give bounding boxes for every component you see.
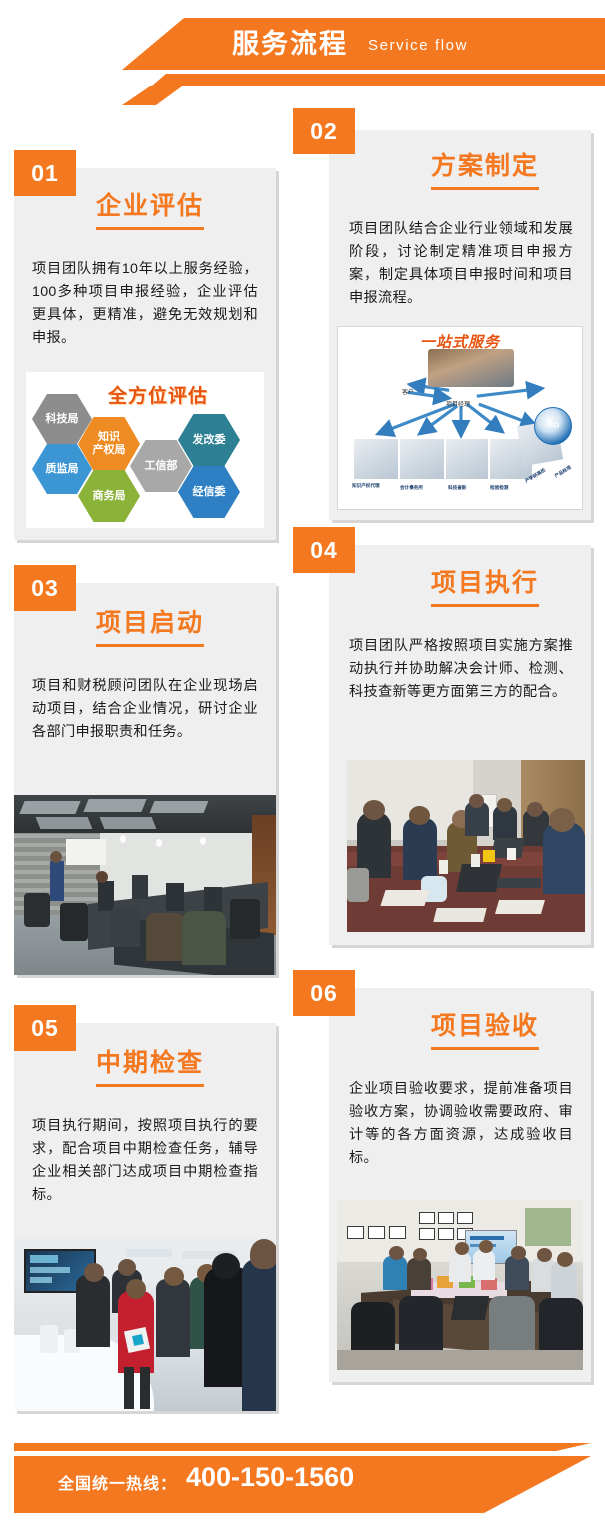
card-title-05: 中期检查 [96,1043,204,1087]
step-number-02: 02 [293,108,355,154]
step-card-03: 项目启动 项目和财税顾问团队在企业现场启动项目，结合企业情况，研讨企业各部门申报… [14,583,276,975]
one-stop-label-2: 会计事务所 [400,485,423,491]
photo-showroom-visit [14,1239,276,1411]
photo-conference-room [14,795,276,975]
hex-diagram-heading: 全方位评估 [108,381,208,408]
step-card-02: 方案制定 项目团队结合企业行业领域和发展阶段，讨论制定精准项目申报方案，制定具体… [329,130,591,520]
card-title-01: 企业评估 [96,186,204,230]
card-title-03: 项目启动 [96,603,204,647]
card-body-02: 项目团队结合企业行业领域和发展阶段，讨论制定精准项目申报方案，制定具体项目申报时… [349,218,573,310]
page-title: 服务流程 [232,26,348,62]
one-stop-label-1: 知识产权代理 [352,483,380,489]
footer-accent-line [14,1443,591,1451]
photo-boardroom-review [337,1200,583,1370]
card-title-04: 项目执行 [431,563,539,607]
one-stop-node-photo-2 [400,439,444,479]
step-card-01: 企业评估 项目团队拥有10年以上服务经验，100多种项目申报经验，企业评估更具体… [14,168,276,540]
card-body-06: 企业项目验收要求，提前准备项目验收方案，协调验收需要政府、审计等的各方面资源，达… [349,1078,573,1170]
step-card-05: 中期检查 项目执行期间，按照项目执行的要求，配合项目中期检查任务，辅导企业相关部… [14,1023,276,1411]
step-number-05: 05 [14,1005,76,1051]
card-title-02: 方案制定 [431,146,539,190]
card-title-06: 项目验收 [431,1006,539,1050]
step-card-06: 项目验收 企业项目验收要求，提前准备项目验收方案，协调验收需要政府、审计等的各方… [329,988,591,1382]
card-body-01: 项目团队拥有10年以上服务经验，100多种项目申报经验，企业评估更具体，更精准，… [32,258,258,350]
one-stop-node-photo-1 [354,439,398,479]
hotline-label: 全国统一热线： [58,1470,177,1494]
step-number-06: 06 [293,970,355,1016]
service-flow-infographic: 服务流程 Service flow 企业评估 项目团队拥有10年以上服务经验，1… [0,0,605,1538]
step-card-04: 项目执行 项目团队严格按照项目实施方案推动执行并协助解决会计师、检测、科技查新等… [329,545,591,945]
page-header: 服务流程 Service flow [0,0,605,105]
card-body-04: 项目团队严格按照项目实施方案推动执行并协助解决会计师、检测、科技查新等更方面第三… [349,635,573,704]
hotline-phone[interactable]: 400-150-1560 [186,1462,354,1493]
one-stop-client-label: 客户 [402,387,414,396]
card-body-05: 项目执行期间，按照项目执行的要求，配合项目中期检查任务，辅导企业相关部门达成项目… [32,1115,258,1207]
iso-seal-label: ISO [547,423,560,430]
one-stop-hub-label: 项目经理 [446,399,470,408]
step-number-03: 03 [14,565,76,611]
step-number-04: 04 [293,527,355,573]
one-stop-hub-photo [428,349,514,387]
step-number-01: 01 [14,150,76,196]
one-stop-label-4: 检验检测 [490,485,508,491]
one-stop-label-3: 科技查新 [448,485,466,491]
header-orange-banner [122,18,605,70]
hex-node-shangwu-ju: 商务局 [78,470,140,522]
hex-diagram: 全方位评估 科技局 知识 产权局 发改委 质监局 工信部 商务局 经信委 [26,372,264,528]
iso-seal-icon: ISO [534,407,572,445]
one-stop-service-diagram: 一站式服务 客户 [337,326,583,510]
card-body-03: 项目和财税顾问团队在企业现场启动项目，结合企业情况，研讨企业各部门申报职责和任务… [32,675,258,744]
header-orange-chevron-tail [122,86,192,105]
one-stop-node-photo-3 [446,439,488,479]
photo-meeting-laptops [347,760,585,932]
page-subtitle: Service flow [368,36,468,56]
header-orange-underbar [122,74,605,86]
